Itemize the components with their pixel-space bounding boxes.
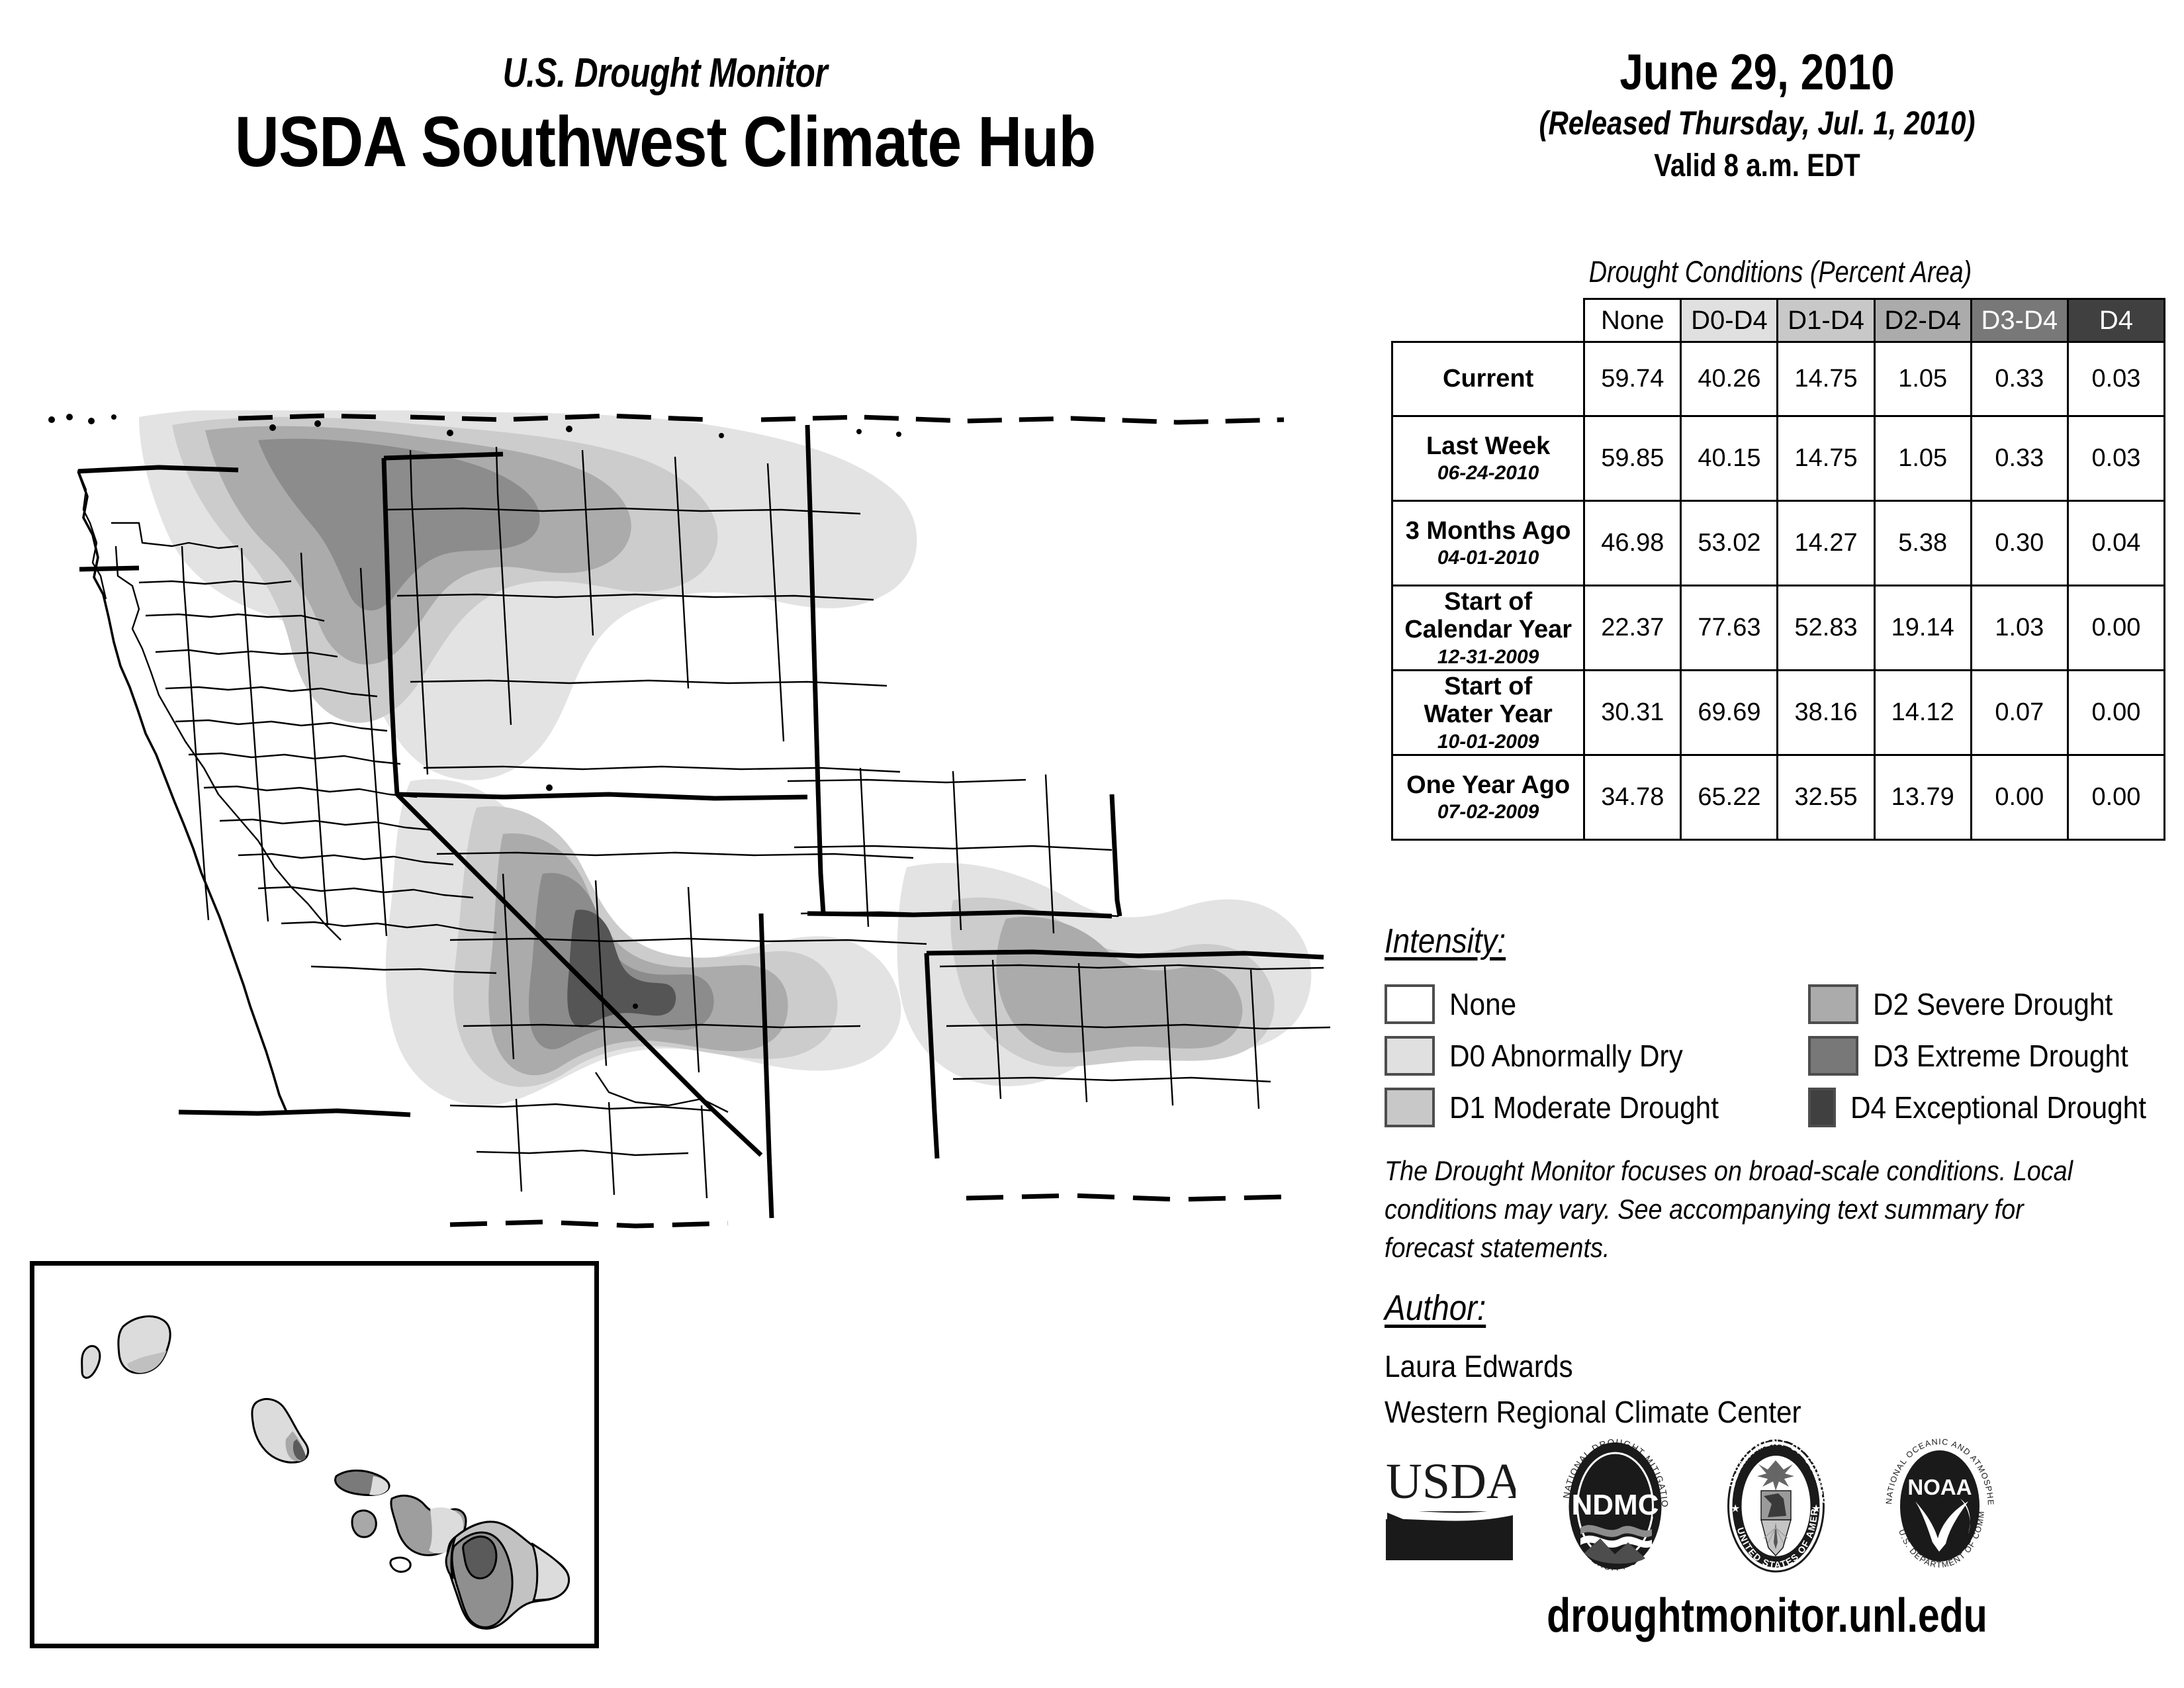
legend-label: D4 Exceptional Drought [1850,1092,2146,1123]
drought-conditions-table: NoneD0-D4D1-D4D2-D4D3-D4D4 Current59.744… [1391,298,2165,841]
valid-time: Valid 8 a.m. EDT [1398,150,2116,183]
drought-monitor-page: U.S. Drought Monitor USDA Southwest Clim… [0,0,2184,1688]
table-cell: 40.26 [1681,342,1778,416]
table-cell: 5.38 [1874,501,1971,586]
row-label-title: Current [1393,365,1583,393]
table-cell: 1.03 [1971,586,2068,671]
table-cell: 0.30 [1971,501,2068,586]
table-cell: 14.12 [1874,671,1971,755]
legend-swatch [1808,1036,1858,1076]
intensity-heading: Intensity: [1385,921,1506,961]
table-cell: 34.78 [1584,755,1681,840]
row-label-title: Last Week [1393,432,1583,461]
table-body: Current59.7440.2614.751.050.330.03Last W… [1392,342,2165,840]
table-cell: 32.55 [1778,755,1874,840]
table-cell: 59.85 [1584,416,1681,501]
table-col-header-d0-d4: D0-D4 [1681,299,1778,342]
table-caption: Drought Conditions (Percent Area) [1452,255,2108,289]
row-label-title: 3 Months Ago [1393,517,1583,545]
legend-item-d0: D0 Abnormally Dry [1385,1036,1808,1076]
row-label-date: 06-24-2010 [1393,462,1583,485]
legend-item-d3: D3 Extreme Drought [1808,1036,2172,1076]
southwest-drought-map [40,410,1337,1264]
table-cell: 1.05 [1874,342,1971,416]
table-cell: 19.14 [1874,586,1971,671]
legend-item-d2: D2 Severe Drought [1808,984,2172,1024]
table-cell: 40.15 [1681,416,1778,501]
table-cell: 1.05 [1874,416,1971,501]
legend-label: D3 Extreme Drought [1873,1041,2128,1071]
table-cell: 38.16 [1778,671,1874,755]
island-niihau [82,1346,100,1378]
table-row: Last Week06-24-201059.8540.1514.751.050.… [1392,416,2165,501]
ndmc-logo: NATIONAL DROUGHT MITIGATION CENTER UNIVE… [1554,1435,1676,1577]
island-kahoolawe [390,1558,410,1571]
table-col-header-d1-d4: D1-D4 [1778,299,1874,342]
legend-label: None [1449,989,1516,1019]
noaa-logo: NATIONAL OCEANIC AND ATMOSPHERIC ADMINIS… [1876,1435,2005,1577]
row-label-title: Start ofWater Year [1393,673,1583,729]
table-cell: 0.00 [1971,755,2068,840]
table-cell: 0.00 [2068,586,2164,671]
intensity-legend: NoneD2 Severe DroughtD0 Abnormally DryD3… [1385,978,2172,1133]
usda-logo: USDA [1383,1446,1516,1566]
table-corner-cell [1392,299,1584,342]
row-label-date: 04-01-2010 [1393,547,1583,569]
author-name: Laura Edwards [1385,1344,2091,1389]
table-cell: 22.37 [1584,586,1681,671]
table-cell: 77.63 [1681,586,1778,671]
row-label: 3 Months Ago04-01-2010 [1392,501,1584,586]
row-label-title: One Year Ago [1393,771,1583,800]
table-row: Current59.7440.2614.751.050.330.03 [1392,342,2165,416]
row-label: Last Week06-24-2010 [1392,416,1584,501]
row-label-title: Start ofCalendar Year [1393,588,1583,644]
svg-text:★: ★ [1811,1503,1821,1515]
row-label: One Year Ago07-02-2009 [1392,755,1584,840]
table-cell: 46.98 [1584,501,1681,586]
svg-text:NDMC: NDMC [1572,1489,1659,1521]
table-col-header-none: None [1584,299,1681,342]
hawaii-inset-map [30,1261,599,1648]
table-header-row: NoneD0-D4D1-D4D2-D4D3-D4D4 [1392,299,2165,342]
table-cell: 53.02 [1681,501,1778,586]
table-cell: 0.00 [2068,671,2164,755]
table-cell: 13.79 [1874,755,1971,840]
row-label-date: 12-31-2009 [1393,646,1583,669]
row-label-date: 10-01-2009 [1393,731,1583,753]
table-cell: 14.75 [1778,416,1874,501]
table-cell: 0.04 [2068,501,2164,586]
table-cell: 0.00 [2068,755,2164,840]
island-lanai [352,1511,376,1537]
table-cell: 30.31 [1584,671,1681,755]
author-affiliation: Western Regional Climate Center [1385,1389,2091,1435]
table-row: Start ofWater Year10-01-200930.3169.6938… [1392,671,2165,755]
table-cell: 0.07 [1971,671,2068,755]
table-row: One Year Ago07-02-200934.7865.2232.5513.… [1392,755,2165,840]
website-url: droughtmonitor.unl.edu [1452,1589,2081,1643]
table-col-header-d3-d4: D3-D4 [1971,299,2068,342]
row-label: Start ofCalendar Year12-31-2009 [1392,586,1584,671]
release-date: June 29, 2010 [1398,46,2116,99]
author-block: Laura Edwards Western Regional Climate C… [1385,1344,2091,1435]
legend-swatch [1385,1088,1435,1127]
legend-item-none: None [1385,984,1808,1024]
legend-item-d1: D1 Moderate Drought [1385,1088,1808,1127]
table-header: NoneD0-D4D1-D4D2-D4D3-D4D4 [1392,299,2165,342]
row-label-date: 07-02-2009 [1393,801,1583,823]
title-block: U.S. Drought Monitor USDA Southwest Clim… [0,53,1330,181]
legend-swatch [1385,984,1435,1024]
date-block: June 29, 2010 (Released Thursday, Jul. 1… [1330,46,2184,183]
svg-text:NOAA: NOAA [1907,1475,1972,1499]
table-col-header-d2-d4: D2-D4 [1874,299,1971,342]
table-cell: 0.03 [2068,416,2164,501]
legend-label: D1 Moderate Drought [1449,1092,1719,1123]
table-row: 3 Months Ago04-01-201046.9853.0214.275.3… [1392,501,2165,586]
table-col-header-d4: D4 [2068,299,2164,342]
page-title: USDA Southwest Climate Hub [93,103,1238,181]
row-label: Start ofWater Year10-01-2009 [1392,671,1584,755]
table-cell: 14.75 [1778,342,1874,416]
drought-monitor-subtitle: U.S. Drought Monitor [133,53,1197,94]
table-cell: 14.27 [1778,501,1874,586]
table-cell: 0.33 [1971,416,2068,501]
disclaimer-text: The Drought Monitor focuses on broad-sca… [1385,1152,2075,1267]
table-cell: 0.33 [1971,342,2068,416]
legend-label: D2 Severe Drought [1873,989,2113,1019]
table-cell: 59.74 [1584,342,1681,416]
legend-label: D0 Abnormally Dry [1449,1041,1683,1071]
release-note: (Released Thursday, Jul. 1, 2010) [1398,106,2116,141]
table-cell: 0.03 [2068,342,2164,416]
table-row: Start ofCalendar Year12-31-200922.3777.6… [1392,586,2165,671]
doc-logo: DEPARTMENT OF COMMERCE UNITED STATES OF … [1715,1435,1837,1577]
svg-text:USDA: USDA [1386,1454,1516,1509]
svg-text:★: ★ [1731,1503,1740,1515]
author-heading: Author: [1385,1288,1486,1329]
table-cell: 65.22 [1681,755,1778,840]
legend-swatch [1385,1036,1435,1076]
row-label: Current [1392,342,1584,416]
hawaii-islands [82,1317,569,1629]
legend-item-d4: D4 Exceptional Drought [1808,1088,2172,1127]
legend-swatch [1808,1088,1836,1127]
legend-swatch [1808,984,1858,1024]
logo-row: USDA NATIONAL DROUGHT MITIGATION CENTER [1383,1430,2144,1582]
table-cell: 52.83 [1778,586,1874,671]
table-cell: 69.69 [1681,671,1778,755]
